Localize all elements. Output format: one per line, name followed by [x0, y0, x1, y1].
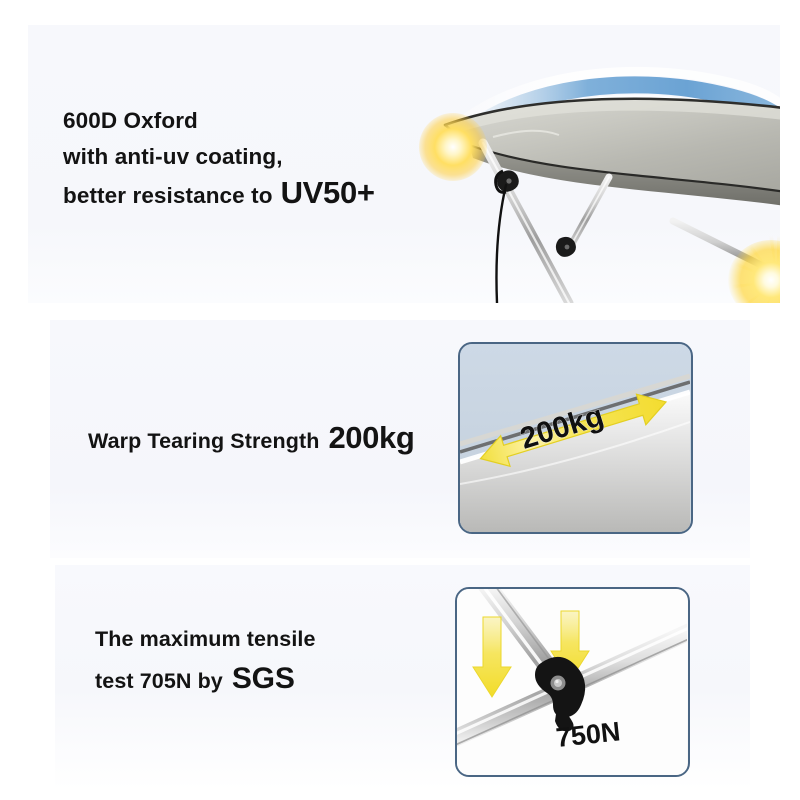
panel-warp-tearing-strength: Warp Tearing Strength 200kg	[50, 320, 750, 558]
tensile-test-text-block: The maximum tensile test 705N by SGS	[95, 620, 316, 701]
panel-tensile-test: The maximum tensile test 705N by SGS	[55, 565, 750, 790]
uv-rating-highlight: UV50+	[281, 175, 375, 211]
warp-strength-value: 200kg	[328, 420, 414, 456]
tensile-test-graphic: 750N	[457, 589, 687, 775]
fabric-line-2: with anti-uv coating,	[63, 139, 375, 175]
sun-glow-icon	[419, 113, 487, 181]
fabric-line-3-prefix: better resistance to	[63, 178, 273, 214]
tensile-line-1: The maximum tensile	[95, 620, 316, 659]
product-infographic: 600D Oxford with anti-uv coating, better…	[0, 0, 800, 800]
warp-strength-text-block: Warp Tearing Strength 200kg	[88, 420, 414, 456]
tensile-line-2: test 705N by SGS	[95, 659, 316, 701]
fabric-line-3: better resistance to UV50+	[63, 175, 375, 214]
warp-strength-label: Warp Tearing Strength	[88, 429, 319, 454]
fabric-uv-text-block: 600D Oxford with anti-uv coating, better…	[63, 103, 375, 214]
panel-fabric-uv: 600D Oxford with anti-uv coating, better…	[28, 25, 780, 303]
canopy-uv-illustration	[373, 25, 780, 303]
tear-test-graphic: 200kg	[460, 344, 690, 532]
fabric-line-1: 600D Oxford	[63, 103, 375, 139]
frame-joint-tensile-photo: 750N	[455, 587, 690, 777]
tensile-line-2-prefix: test 705N by	[95, 662, 223, 701]
sgs-highlight: SGS	[232, 659, 295, 698]
fabric-tear-test-photo: 200kg	[458, 342, 693, 534]
